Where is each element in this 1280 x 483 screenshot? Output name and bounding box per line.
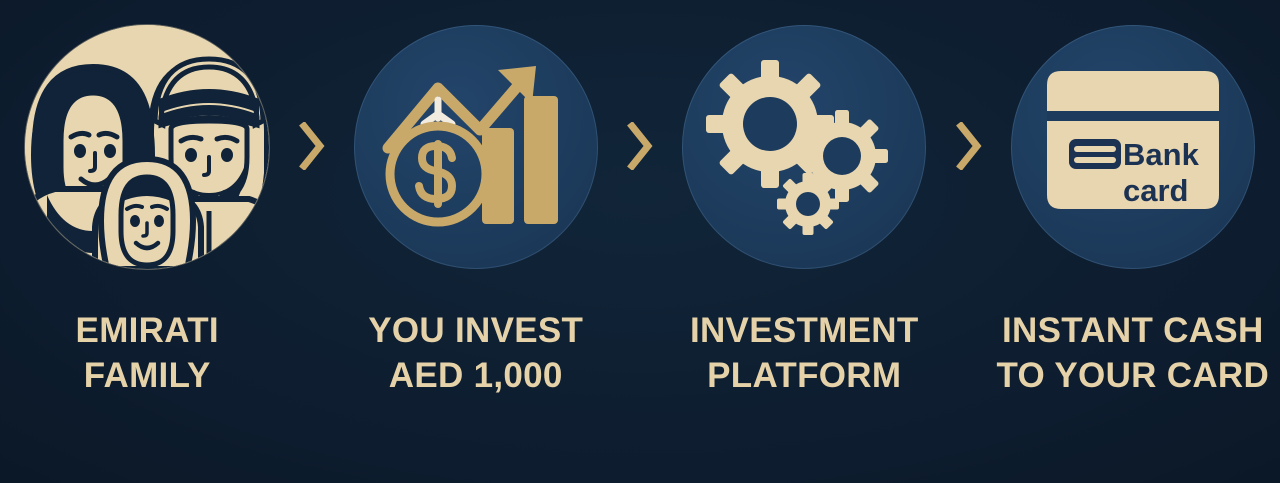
bank-card-text-line-2: card (1123, 173, 1188, 208)
caption-line: AED 1,000 (368, 354, 583, 399)
step-investment-platform: INVESTMENT PLATFORM (657, 0, 952, 483)
caption-line: PLATFORM (690, 354, 919, 399)
separator-3 (952, 0, 986, 483)
separator-2 (623, 0, 657, 483)
step-2-circle (354, 25, 598, 269)
emirati-family-icon (25, 25, 269, 269)
caption-line: FAMILY (76, 354, 219, 399)
step-3-caption: INVESTMENT PLATFORM (690, 309, 919, 399)
caption-line: INVESTMENT (690, 309, 919, 354)
caption-line: INSTANT CASH (996, 309, 1269, 354)
bank-card-icon: Bank card (1033, 57, 1233, 237)
step-1-circle (25, 25, 269, 269)
gears-icon (704, 52, 904, 242)
step-you-invest: YOU INVEST AED 1,000 (329, 0, 624, 483)
step-instant-cash: Bank card INSTANT CASH TO YOUR CARD (986, 0, 1280, 483)
process-flow: EMIRATI FAMILY (0, 0, 1280, 483)
step-3-circle (682, 25, 926, 269)
investment-growth-icon (376, 52, 576, 242)
infographic-canvas: EMIRATI FAMILY (0, 0, 1280, 483)
bank-card-text-line-1: Bank (1123, 137, 1200, 172)
caption-line: YOU INVEST (368, 309, 583, 354)
caption-line: EMIRATI (76, 309, 219, 354)
step-4-caption: INSTANT CASH TO YOUR CARD (996, 309, 1269, 399)
chevron-right-icon (627, 122, 653, 170)
step-2-caption: YOU INVEST AED 1,000 (368, 309, 583, 399)
caption-line: TO YOUR CARD (996, 354, 1269, 399)
chevron-right-icon (956, 122, 982, 170)
step-1-caption: EMIRATI FAMILY (76, 309, 219, 399)
separator-1 (295, 0, 329, 483)
step-4-circle: Bank card (1011, 25, 1255, 269)
step-emirati-family: EMIRATI FAMILY (0, 0, 295, 483)
chevron-right-icon (299, 122, 325, 170)
